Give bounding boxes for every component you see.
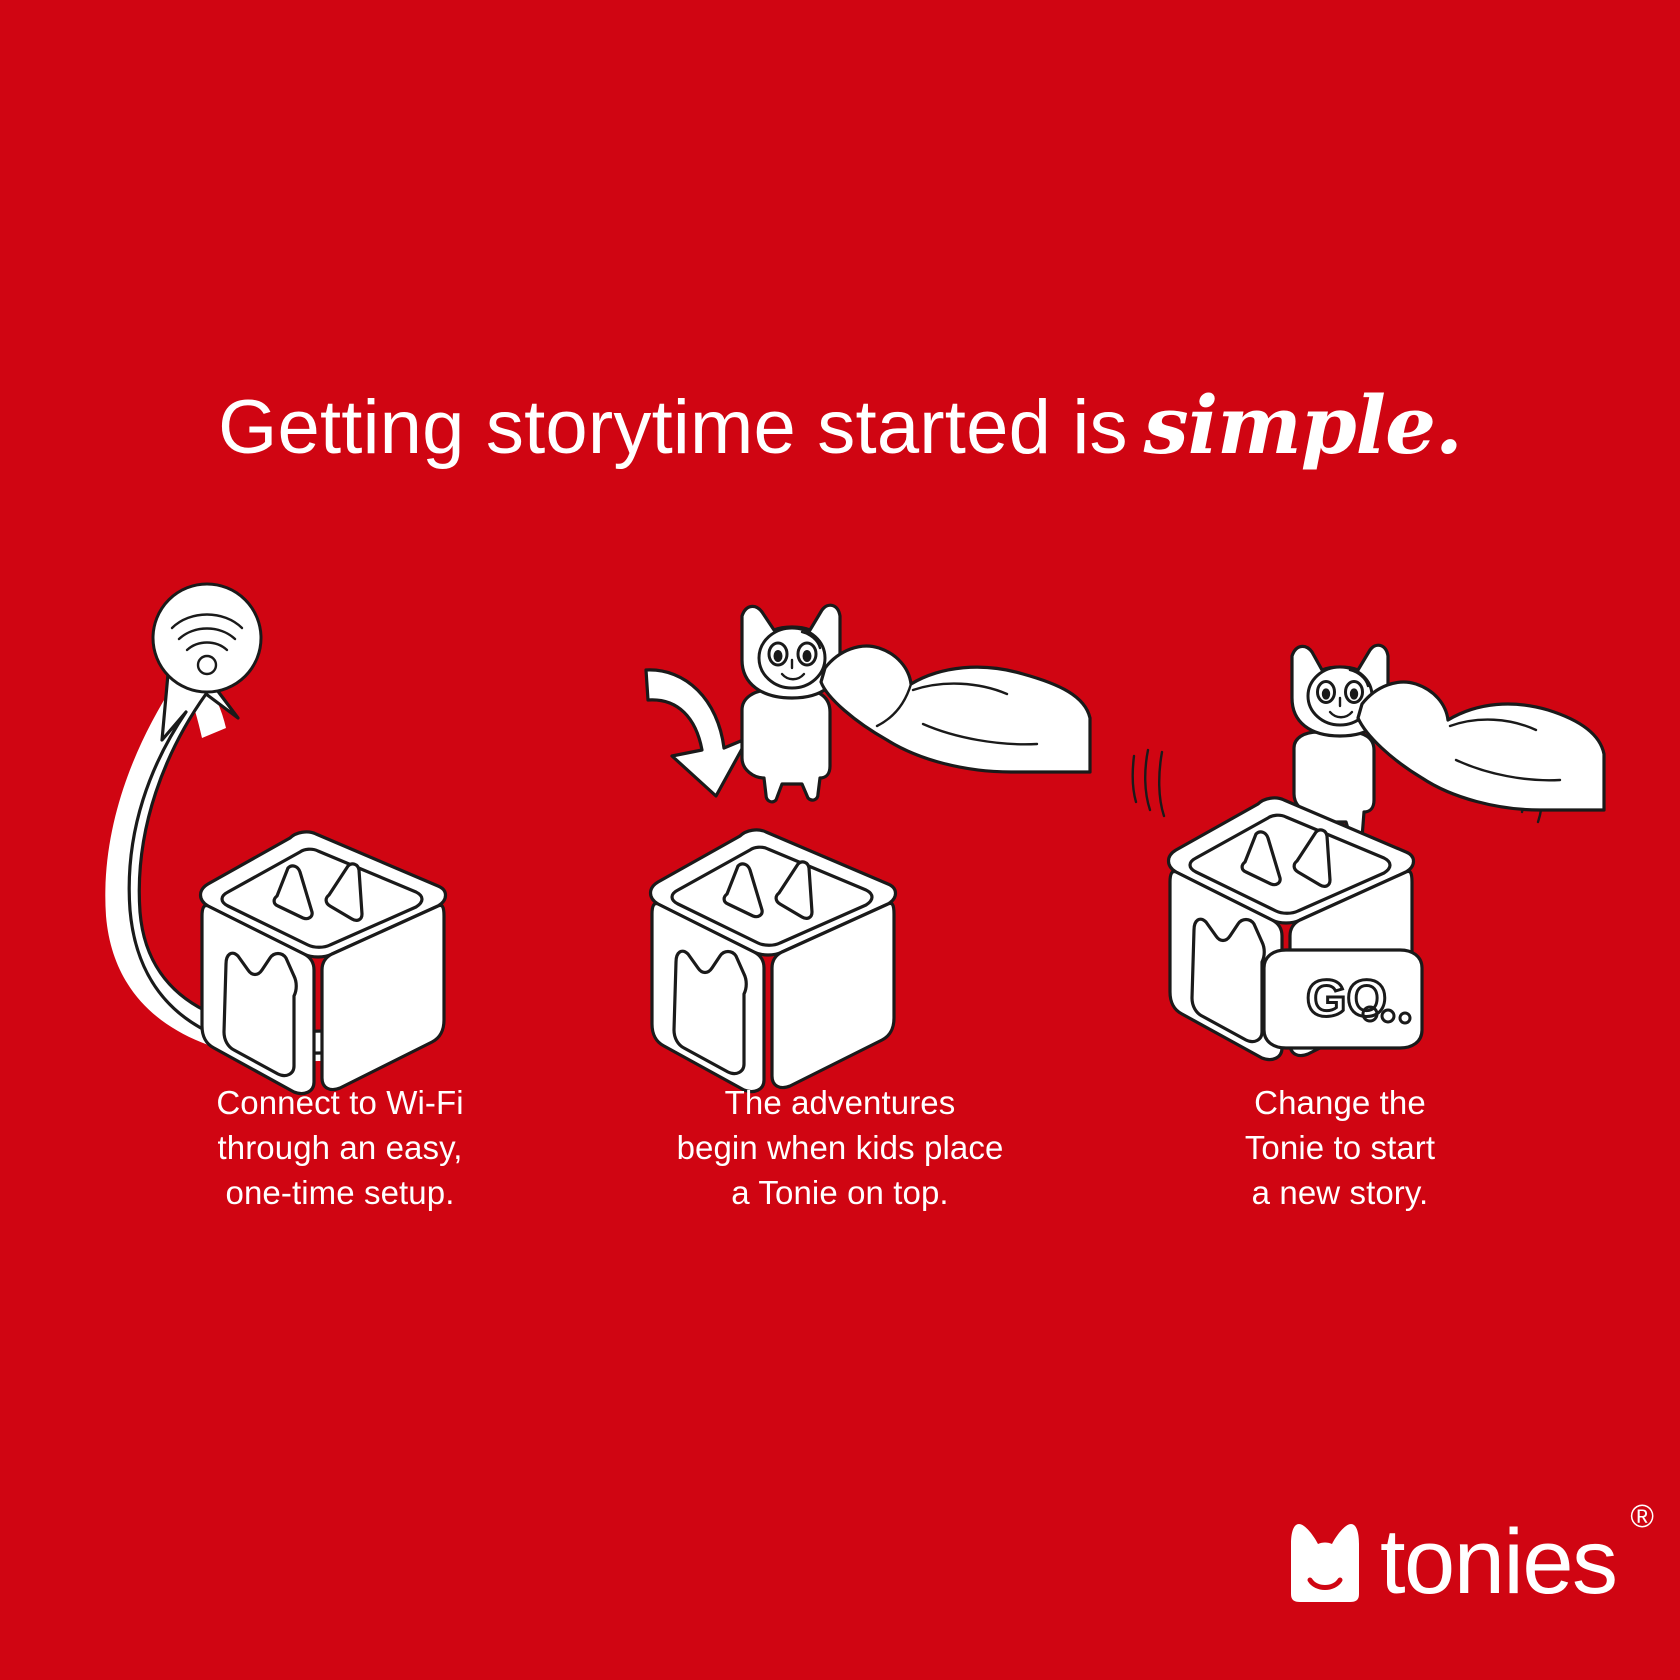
registered-trademark-icon: ®: [1630, 1500, 1652, 1532]
caption-line: a Tonie on top.: [590, 1170, 1090, 1215]
logo-wordmark: tonies: [1380, 1511, 1617, 1613]
motion-lines-icon: [1133, 750, 1164, 816]
logo-wordmark-wrap: tonies ®: [1380, 1516, 1617, 1608]
page-title: Getting storytime started issimple.: [0, 378, 1680, 472]
step-illustration-wifi: [90, 560, 590, 1080]
wifi-icon: [153, 584, 261, 692]
step-illustration-place-tonie: [590, 560, 1090, 1080]
brand-logo[interactable]: tonies ®: [1288, 1488, 1617, 1608]
step-caption-change-tonie: Change the Tonie to start a new story.: [1090, 1080, 1590, 1215]
poster-canvas: Getting storytime started issimple.: [0, 0, 1680, 1680]
caption-line: begin when kids place: [590, 1125, 1090, 1170]
curved-down-arrow-icon: [646, 670, 748, 796]
tonie-figure-icon: [742, 605, 840, 802]
step-card-change-tonie: GO Change the Tonie to start a new story…: [1090, 560, 1590, 1280]
caption-line: Change the: [1090, 1080, 1590, 1125]
caption-line: through an easy,: [90, 1125, 590, 1170]
step-illustration-change-tonie: GO: [1090, 560, 1590, 1080]
caption-line: one-time setup.: [90, 1170, 590, 1215]
go-speech-bubble: GO: [1264, 950, 1422, 1048]
caption-line: The adventures: [590, 1080, 1090, 1125]
cat-head-logo-icon: [1288, 1522, 1362, 1604]
toniebox-icon: [651, 830, 896, 1092]
headline-lead: Getting storytime started is: [218, 385, 1127, 470]
caption-line: Connect to Wi-Fi: [90, 1080, 590, 1125]
headline-emphasis: simple.: [1144, 378, 1462, 472]
step-caption-place-tonie: The adventures begin when kids place a T…: [590, 1080, 1090, 1215]
steps-row: Connect to Wi-Fi through an easy, one-ti…: [90, 560, 1590, 1280]
caption-line: Tonie to start: [1090, 1125, 1590, 1170]
step-card-place-tonie: The adventures begin when kids place a T…: [590, 560, 1090, 1280]
hand-icon: [821, 646, 1090, 772]
caption-line: a new story.: [1090, 1170, 1590, 1215]
step-caption-wifi: Connect to Wi-Fi through an easy, one-ti…: [90, 1080, 590, 1215]
hand-icon: [1358, 682, 1604, 810]
toniebox-icon: [201, 832, 446, 1094]
step-card-wifi: Connect to Wi-Fi through an easy, one-ti…: [90, 560, 590, 1280]
